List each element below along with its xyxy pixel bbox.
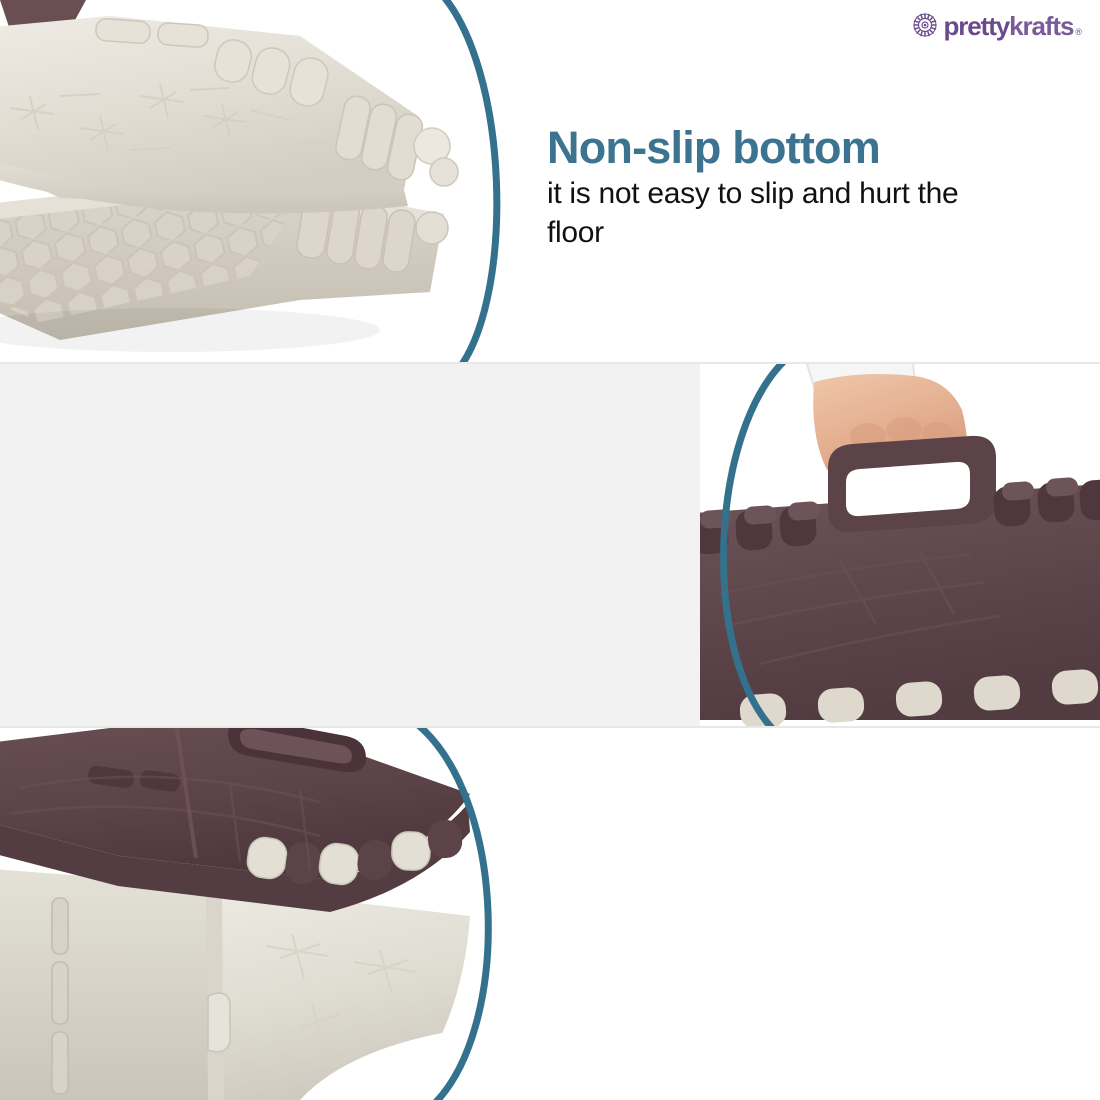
feature-heading: Non-slip bottom (547, 124, 1017, 171)
mandala-flower-icon (910, 10, 940, 40)
product-photo-non-slip-bottom (0, 0, 470, 362)
brand-name-part-1: pretty (944, 11, 1010, 41)
trademark-symbol: ® (1075, 27, 1082, 37)
feature-section-handle-design: Handle design it is ergonomically design… (0, 364, 1100, 726)
brand-logo: prettykrafts ® (910, 8, 1085, 42)
product-photo-handle-design (700, 364, 1100, 726)
brand-name-part-2: krafts (1009, 11, 1073, 41)
feature-subtext: it is not easy to slip and hurt the floo… (547, 175, 1017, 252)
product-photo-round-corners (0, 728, 500, 1100)
brand-name: prettykrafts (944, 13, 1074, 39)
product-infographic: Non-slip bottom it is not easy to slip a… (0, 0, 1100, 1100)
feature-section-non-slip-bottom: Non-slip bottom it is not easy to slip a… (0, 0, 1100, 362)
feature-section-round-corners: Round corners Safe round corner design t… (0, 728, 1100, 1100)
feature-text-non-slip-bottom: Non-slip bottom it is not easy to slip a… (547, 124, 1017, 252)
